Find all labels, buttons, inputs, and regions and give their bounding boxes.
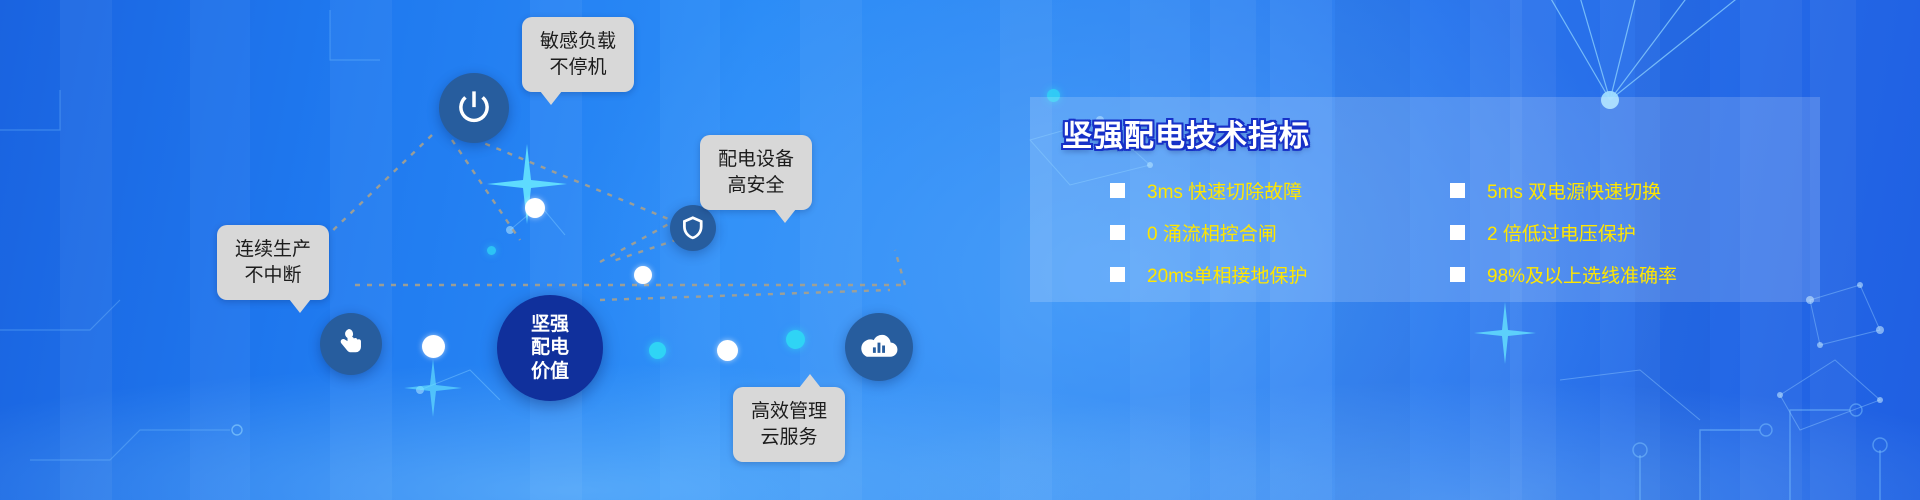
callout-tail	[289, 299, 311, 313]
spec-label: 20ms单相接地保护	[1147, 261, 1307, 288]
link-dot	[525, 198, 545, 218]
node-shield[interactable]	[670, 205, 716, 251]
callout-line-2: 高安全	[728, 175, 785, 196]
callout-line-1: 配电设备	[718, 149, 794, 170]
bullet-square-icon	[1110, 225, 1125, 240]
spec-label: 2 倍低过电压保护	[1487, 219, 1636, 246]
spec-item: 5ms 双电源快速切换	[1450, 169, 1730, 211]
spec-label: 3ms 快速切除故障	[1147, 177, 1302, 204]
spec-item: 3ms 快速切除故障	[1110, 169, 1390, 211]
link-dot	[717, 340, 738, 361]
spec-item: 20ms单相接地保护	[1110, 253, 1390, 295]
callout-touch: 连续生产 不中断	[217, 225, 329, 300]
spec-item: 2 倍低过电压保护	[1450, 211, 1730, 253]
bullet-square-icon	[1450, 225, 1465, 240]
callout-tail	[774, 209, 796, 223]
node-touch[interactable]	[320, 313, 382, 375]
callout-line-1: 连续生产	[235, 239, 311, 260]
bullet-square-icon	[1110, 267, 1125, 282]
callout-line-2: 不停机	[550, 57, 607, 78]
spec-item: 0 涌流相控合闸	[1110, 211, 1390, 253]
spec-label: 5ms 双电源快速切换	[1487, 177, 1661, 204]
link-dot-cyan	[786, 330, 805, 349]
link-dot	[422, 335, 445, 358]
callout-cloud: 高效管理 云服务	[733, 387, 845, 462]
callout-tail	[540, 91, 562, 105]
panel-title: 坚强配电技术指标	[1062, 111, 1310, 155]
link-dot-cyan	[487, 246, 496, 255]
callout-tail	[799, 374, 821, 388]
bottom-glow	[0, 340, 1920, 500]
spec-label: 0 涌流相控合闸	[1147, 219, 1277, 246]
bullet-square-icon	[1450, 183, 1465, 198]
link-dot	[634, 266, 652, 284]
callout-line-2: 不中断	[245, 265, 302, 286]
spec-list: 3ms 快速切除故障 5ms 双电源快速切换 0 涌流相控合闸 2 倍低过电压保…	[1110, 169, 1730, 295]
link-dot-cyan	[649, 342, 666, 359]
node-power[interactable]	[439, 73, 509, 143]
promo-banner: 坚强 配电 价值 敏感负载 不停机 配电设备 高安全 连续生产 不中断 高效管理…	[0, 0, 1920, 500]
bullet-square-icon	[1110, 183, 1125, 198]
callout-line-2: 云服务	[761, 427, 818, 448]
callout-power: 敏感负载 不停机	[522, 17, 634, 92]
power-icon	[453, 87, 495, 129]
cloud-chart-icon	[859, 327, 900, 368]
node-cloud[interactable]	[845, 313, 913, 381]
center-node[interactable]: 坚强 配电 价值	[497, 295, 603, 401]
shield-icon	[679, 214, 707, 242]
bullet-square-icon	[1450, 267, 1465, 282]
callout-line-1: 敏感负载	[540, 31, 616, 52]
spec-label: 98%及以上选线准确率	[1487, 261, 1677, 288]
callout-line-1: 高效管理	[751, 401, 827, 422]
bottom-glow-right	[900, 340, 1920, 500]
touch-hand-icon	[332, 325, 369, 362]
spec-item: 98%及以上选线准确率	[1450, 253, 1730, 295]
spec-panel: 坚强配电技术指标 3ms 快速切除故障 5ms 双电源快速切换 0 涌流相控合闸…	[1030, 97, 1820, 302]
center-node-label: 坚强 配电 价值	[531, 313, 569, 383]
callout-shield: 配电设备 高安全	[700, 135, 812, 210]
